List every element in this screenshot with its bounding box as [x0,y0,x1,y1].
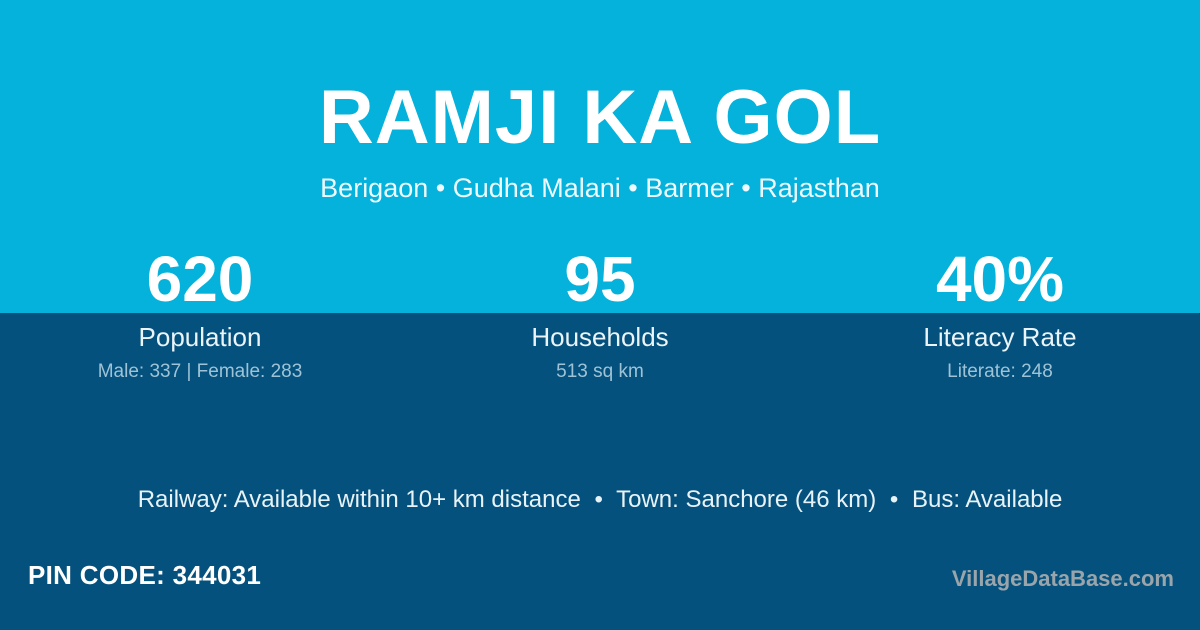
nearest-town-info: Town: Sanchore (46 km) [616,486,876,513]
stat-literacy-rate: 40% Literacy Rate Literate: 248 [800,246,1200,383]
stat-label: Households [400,322,800,352]
stat-value: 95 [400,246,800,312]
stat-label: Population [0,322,400,352]
bullet-separator-icon: • [587,486,609,513]
site-brand-label: VillageDataBase.com [952,566,1174,592]
transport-info-line: Railway: Available within 10+ km distanc… [0,485,1200,515]
stat-sublabel: Male: 337 | Female: 283 [0,361,400,383]
card-header: RAMJI KA GOL Berigaon • Gudha Malani • B… [0,0,1200,204]
village-info-card: RAMJI KA GOL Berigaon • Gudha Malani • B… [0,0,1200,630]
stat-value: 40% [800,246,1200,312]
breadcrumb: Berigaon • Gudha Malani • Barmer • Rajas… [0,160,1200,204]
pin-code-label: PIN CODE: 344031 [28,560,261,590]
stat-label: Literacy Rate [800,322,1200,352]
stats-row: 620 Population Male: 337 | Female: 283 9… [0,246,1200,383]
stat-households: 95 Households 513 sq km [400,246,800,383]
stat-value: 620 [0,246,400,312]
bullet-separator-icon: • [883,486,905,513]
page-title: RAMJI KA GOL [0,0,1200,160]
stat-sublabel: 513 sq km [400,361,800,383]
card-footer: PIN CODE: 344031 VillageDataBase.com [0,538,1200,630]
bus-info: Bus: Available [912,486,1062,513]
stat-sublabel: Literate: 248 [800,361,1200,383]
railway-info: Railway: Available within 10+ km distanc… [138,486,581,513]
stat-population: 620 Population Male: 337 | Female: 283 [0,246,400,383]
